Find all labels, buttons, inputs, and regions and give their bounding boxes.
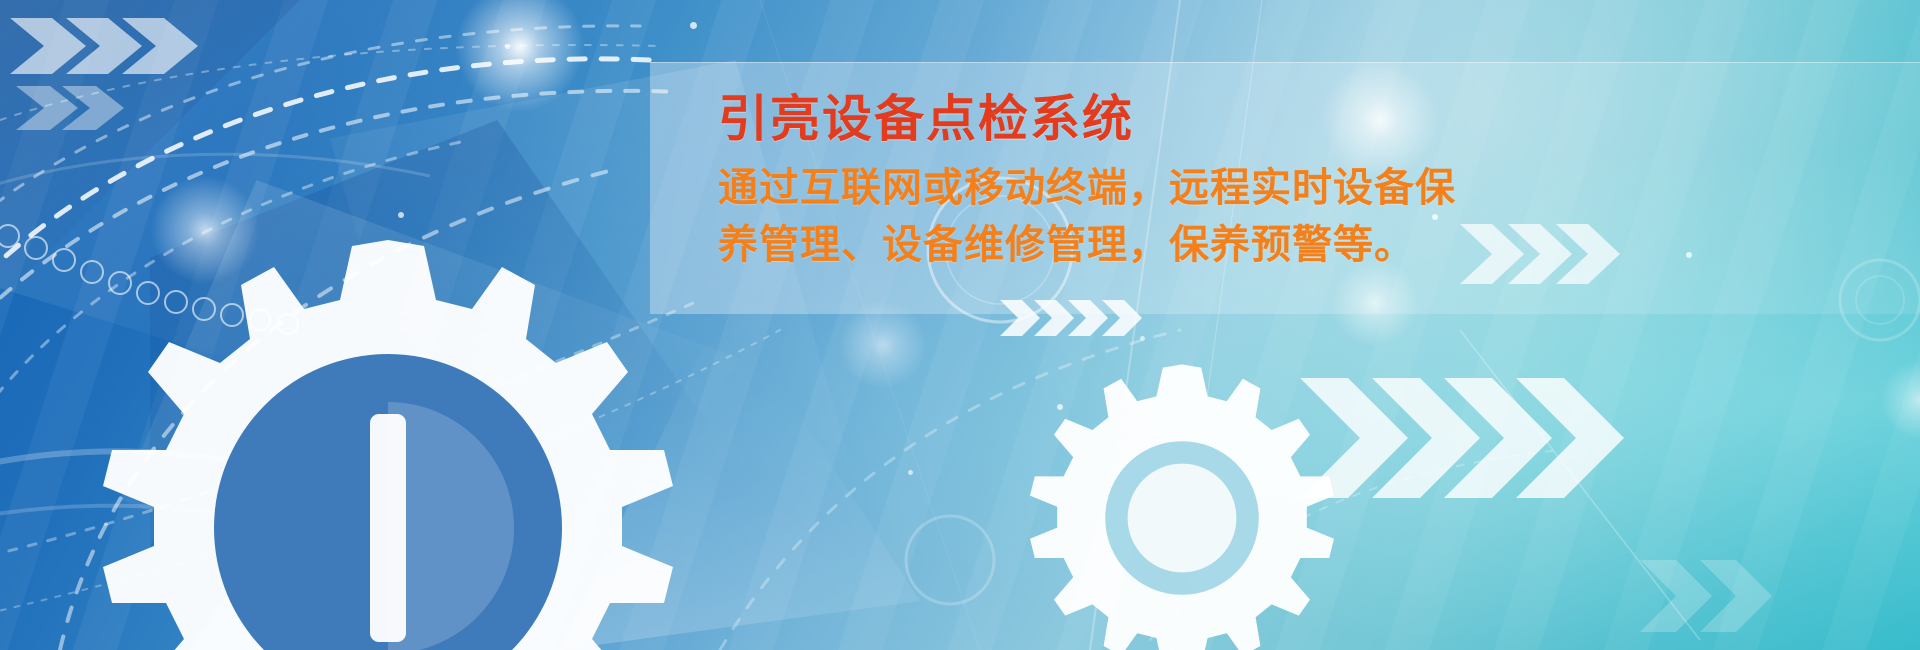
light-flare <box>1880 360 1920 440</box>
light-spark <box>398 212 404 218</box>
banner-subtitle-line-1: 通过互联网或移动终端，远程实时设备保 <box>718 160 1908 217</box>
light-spark <box>505 44 510 49</box>
light-spark <box>908 470 913 475</box>
banner-text-block: 引亮设备点检系统 通过互联网或移动终端，远程实时设备保 养管理、设备维修管理，保… <box>718 92 1908 274</box>
banner-subtitle-line-2: 养管理、设备维修管理，保养预警等。 <box>718 217 1908 274</box>
hero-banner: 引亮设备点检系统 通过互联网或移动终端，远程实时设备保 养管理、设备维修管理，保… <box>0 0 1920 650</box>
banner-title: 引亮设备点检系统 <box>718 92 1908 146</box>
gear-small <box>1022 358 1342 650</box>
chevron-bottom-right <box>1300 378 1624 498</box>
light-spark <box>1140 336 1145 341</box>
gear-large <box>88 228 688 650</box>
light-spark <box>690 22 697 29</box>
